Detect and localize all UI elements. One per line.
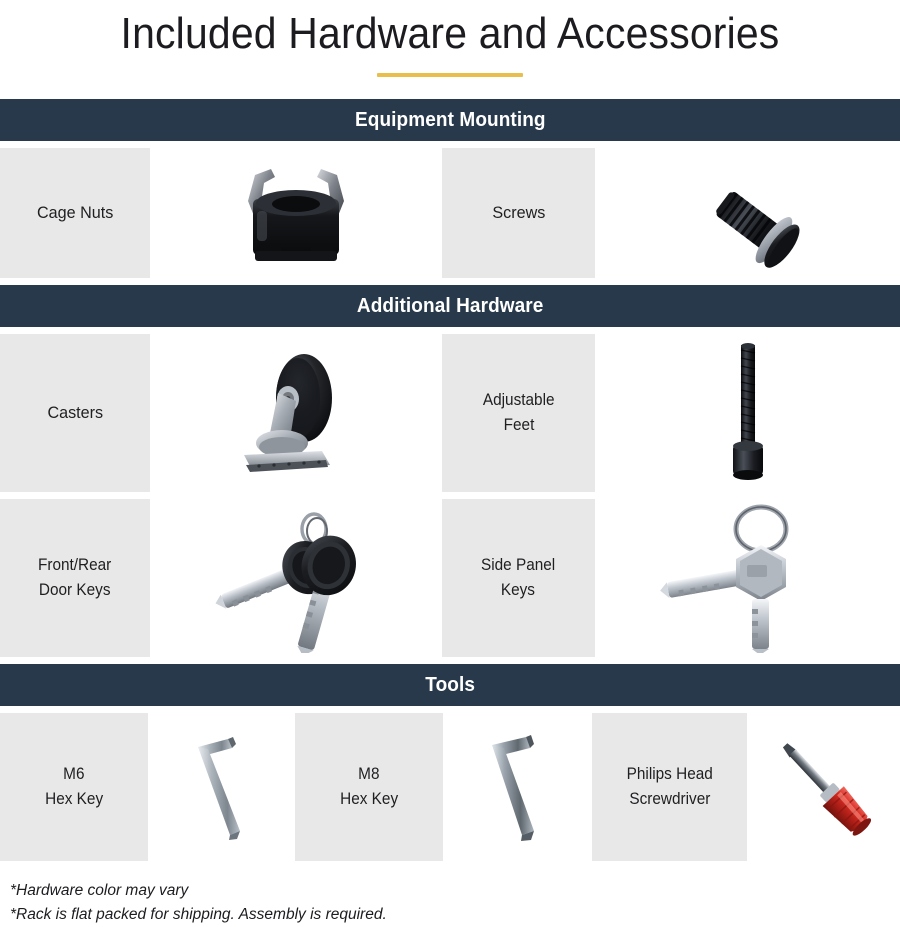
cell-image-screws	[595, 148, 900, 278]
hex-key-m8-icon	[478, 727, 558, 847]
row-gap	[0, 278, 900, 285]
cell-image-m6-hex-key	[148, 713, 295, 861]
cell-label-philips-head-screwdriver: Philips Head Screwdriver	[592, 713, 747, 861]
cell-label-cage-nuts: Cage Nuts	[0, 148, 150, 278]
item-label-line2: Keys	[501, 578, 535, 603]
item-label: M8 Hex Key	[338, 762, 399, 811]
cell-image-casters	[150, 334, 442, 492]
item-label: Screws	[492, 201, 545, 226]
cage-nut-icon	[231, 159, 361, 267]
black-door-keys-icon	[196, 503, 396, 653]
item-label: Philips Head Screwdriver	[624, 762, 715, 811]
item-label-line2: Screwdriver	[629, 787, 710, 812]
cell-label-screws: Screws	[442, 148, 595, 278]
table-row: Casters	[0, 334, 900, 492]
row-gap	[0, 327, 900, 334]
section-header-label: Equipment Mounting	[355, 99, 546, 141]
adjustable-foot-bolt-icon	[703, 341, 793, 485]
cell-image-side-panel-keys	[595, 499, 900, 657]
cell-image-m8-hex-key	[443, 713, 592, 861]
item-label: M6 Hex Key	[43, 762, 104, 811]
section-header-additional-hardware: Additional Hardware	[0, 285, 900, 327]
section-header-equipment-mounting: Equipment Mounting	[0, 99, 900, 141]
cell-label-side-panel-keys: Side Panel Keys	[442, 499, 595, 657]
title-block: Included Hardware and Accessories	[0, 0, 900, 77]
footnote-hardware-color: *Hardware color may vary	[10, 879, 900, 903]
item-label-line1: Front/Rear	[38, 553, 111, 578]
cell-image-philips-head-screwdriver	[747, 713, 900, 861]
cell-label-front-rear-door-keys: Front/Rear Door Keys	[0, 499, 150, 657]
item-label: Adjustable Feet	[481, 388, 556, 437]
item-label-line1: M6	[63, 762, 84, 787]
footnote-flat-packed: *Rack is flat packed for shipping. Assem…	[10, 903, 900, 927]
section-header-label: Tools	[425, 664, 475, 706]
row-gap	[0, 492, 900, 499]
section-header-label: Additional Hardware	[357, 285, 544, 327]
section-header-tools: Tools	[0, 664, 900, 706]
cell-label-m6-hex-key: M6 Hex Key	[0, 713, 148, 861]
hardware-accessories-infographic: Included Hardware and Accessories Equipm…	[0, 0, 900, 900]
row-gap	[0, 141, 900, 148]
caster-wheel-icon	[226, 343, 366, 483]
hex-key-m6-icon	[182, 727, 262, 847]
silver-panel-keys-icon	[653, 503, 843, 653]
item-label: Cage Nuts	[37, 201, 113, 226]
table-row: Front/Rear Door Keys	[0, 499, 900, 657]
cell-image-front-rear-door-keys	[150, 499, 442, 657]
item-label-line2: Door Keys	[39, 578, 111, 603]
philips-screwdriver-icon	[759, 722, 889, 852]
table-row: M6 Hex Key	[0, 713, 900, 861]
cell-label-m8-hex-key: M8 Hex Key	[295, 713, 443, 861]
cell-image-adjustable-feet	[595, 334, 900, 492]
item-label-line2: Hex Key	[340, 787, 398, 812]
row-gap	[0, 657, 900, 664]
item-label-line1: M8	[358, 762, 379, 787]
item-label-line2: Hex Key	[45, 787, 103, 812]
item-label-line1: Side Panel	[481, 553, 555, 578]
item-label: Front/Rear Door Keys	[36, 553, 113, 602]
cell-label-adjustable-feet: Adjustable Feet	[442, 334, 595, 492]
page-title: Included Hardware and Accessories	[32, 6, 869, 61]
spacer	[0, 77, 900, 99]
item-label-line2: Feet	[503, 413, 534, 438]
item-label: Casters	[47, 401, 103, 426]
cell-image-cage-nuts	[150, 148, 442, 278]
screw-icon	[673, 154, 823, 272]
item-label-line1: Philips Head	[626, 762, 712, 787]
item-label-line1: Adjustable	[483, 388, 555, 413]
footnotes: *Hardware color may vary *Rack is flat p…	[0, 861, 900, 927]
table-row: Cage Nuts	[0, 148, 900, 278]
row-gap	[0, 706, 900, 713]
item-label: Side Panel Keys	[479, 553, 557, 602]
cell-label-casters: Casters	[0, 334, 150, 492]
